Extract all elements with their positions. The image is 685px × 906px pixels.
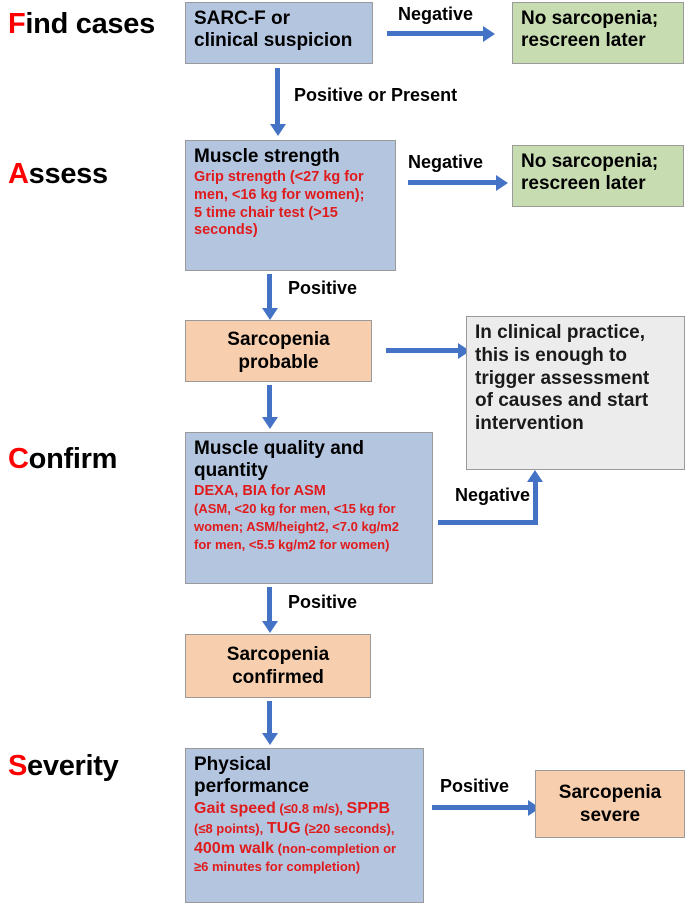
box-title: Muscle strength — [194, 146, 387, 168]
detail-term: 400m walk — [194, 840, 274, 857]
stage-label-severity: Severity — [8, 750, 118, 783]
detail-value: (≥20 seconds), — [301, 821, 395, 836]
stage-initial: S — [8, 750, 27, 782]
box-no-sarcopenia-rescreen-1[interactable]: No sarcopenia; rescreen later — [512, 2, 684, 64]
box-line: No sarcopenia; — [521, 8, 675, 30]
flowchart-canvas: Find cases Assess Confirm Severity SARC-… — [0, 0, 685, 906]
stage-initial: A — [8, 158, 29, 190]
stage-rest: onfirm — [29, 443, 117, 475]
detail-value: (≤0.8 m/s), — [276, 801, 347, 816]
box-title-line: Muscle quality and — [194, 438, 424, 460]
detail-value: ≥6 minutes for completion) — [194, 859, 360, 874]
box-sarcopenia-probable[interactable]: Sarcopenia probable — [185, 320, 372, 382]
stage-initial: F — [8, 8, 25, 40]
detail-term: SPPB — [347, 800, 391, 817]
note-line: trigger assessment — [475, 368, 676, 391]
note-line: intervention — [475, 413, 676, 436]
arrow-muscle-strength-to-no-sarcopenia — [408, 175, 508, 191]
arrow-sarcf-to-muscle-strength — [270, 68, 286, 138]
detail-line: men, <16 kg for women); — [194, 187, 364, 203]
note-line: this is enough to — [475, 345, 676, 368]
arrow-probable-to-muscle-quality — [262, 385, 278, 433]
detail-line: 5 time chair test (>15 — [194, 205, 338, 221]
detail-line: (ASM, <20 kg for men, <15 kg for — [194, 501, 396, 516]
arrow-label-positive-2: Positive — [288, 592, 357, 613]
box-sarcopenia-severe[interactable]: Sarcopenia severe — [535, 770, 685, 838]
detail-term: TUG — [267, 820, 301, 837]
box-detail: DEXA, BIA for ASM (ASM, <20 kg for men, … — [194, 483, 424, 554]
arrow-label-negative-1: Negative — [398, 4, 473, 25]
box-line: probable — [194, 352, 363, 374]
detail-term: Gait speed — [194, 800, 276, 817]
arrow-muscle-strength-to-sarcopenia-probable — [262, 274, 278, 324]
box-line: Sarcopenia — [194, 644, 362, 666]
box-muscle-quality-quantity[interactable]: Muscle quality and quantity DEXA, BIA fo… — [185, 432, 433, 584]
detail-value: (≤8 points), — [194, 821, 267, 836]
box-line: rescreen later — [521, 30, 675, 52]
stage-rest: everity — [27, 750, 118, 782]
box-line: No sarcopenia; — [521, 151, 675, 173]
detail-line: seconds) — [194, 222, 258, 238]
detail-line: Grip strength (<27 kg for — [194, 169, 364, 185]
stage-rest: ssess — [29, 158, 108, 190]
arrow-sarcf-to-no-sarcopenia — [387, 26, 497, 42]
box-line: confirmed — [194, 667, 362, 689]
box-title-line: Physical — [194, 754, 415, 776]
detail-line: for men, <5.5 kg/m2 for women) — [194, 537, 389, 552]
box-clinical-practice-note[interactable]: In clinical practice, this is enough to … — [466, 316, 685, 470]
arrow-label-negative-2: Negative — [408, 152, 483, 173]
box-muscle-strength[interactable]: Muscle strength Grip strength (<27 kg fo… — [185, 140, 396, 271]
arrow-label-positive-or-present: Positive or Present — [294, 85, 457, 106]
stage-label-confirm: Confirm — [8, 443, 117, 476]
stage-rest: ind cases — [25, 8, 155, 40]
box-line: SARC-F or — [194, 8, 364, 30]
arrow-label-positive-3: Positive — [440, 776, 509, 797]
arrow-label-positive-1: Positive — [288, 278, 357, 299]
box-title-line: performance — [194, 776, 415, 798]
arrow-probable-to-clinical-note — [386, 343, 476, 359]
box-detail: Gait speed (≤0.8 m/s), SPPB (≤8 points),… — [194, 799, 415, 876]
detail-line: DEXA, BIA for ASM — [194, 483, 326, 499]
arrow-confirmed-to-physical-performance — [262, 701, 278, 749]
note-line: In clinical practice, — [475, 322, 676, 345]
stage-initial: C — [8, 443, 29, 475]
note-line: of causes and start — [475, 390, 676, 413]
box-line: clinical suspicion — [194, 30, 364, 52]
arrow-physical-performance-to-sarcopenia-severe — [432, 800, 542, 816]
arrow-label-negative-3: Negative — [455, 485, 530, 506]
stage-label-find-cases: Find cases — [8, 8, 155, 41]
stage-label-assess: Assess — [8, 158, 108, 191]
box-line: Sarcopenia — [194, 329, 363, 351]
box-line: Sarcopenia — [544, 782, 676, 804]
box-detail: Grip strength (<27 kg for men, <16 kg fo… — [194, 169, 387, 240]
box-title-line: quantity — [194, 460, 424, 482]
box-line: severe — [544, 805, 676, 827]
box-no-sarcopenia-rescreen-2[interactable]: No sarcopenia; rescreen later — [512, 145, 684, 207]
box-line: rescreen later — [521, 173, 675, 195]
box-sarcopenia-confirmed[interactable]: Sarcopenia confirmed — [185, 634, 371, 698]
arrow-muscle-quality-to-sarcopenia-confirmed — [262, 587, 278, 637]
detail-line: women; ASM/height2, <7.0 kg/m2 — [194, 519, 399, 534]
detail-value: (non-completion or — [274, 841, 396, 856]
box-sarc-f-screening[interactable]: SARC-F or clinical suspicion — [185, 2, 373, 64]
box-physical-performance[interactable]: Physical performance Gait speed (≤0.8 m/… — [185, 748, 424, 903]
